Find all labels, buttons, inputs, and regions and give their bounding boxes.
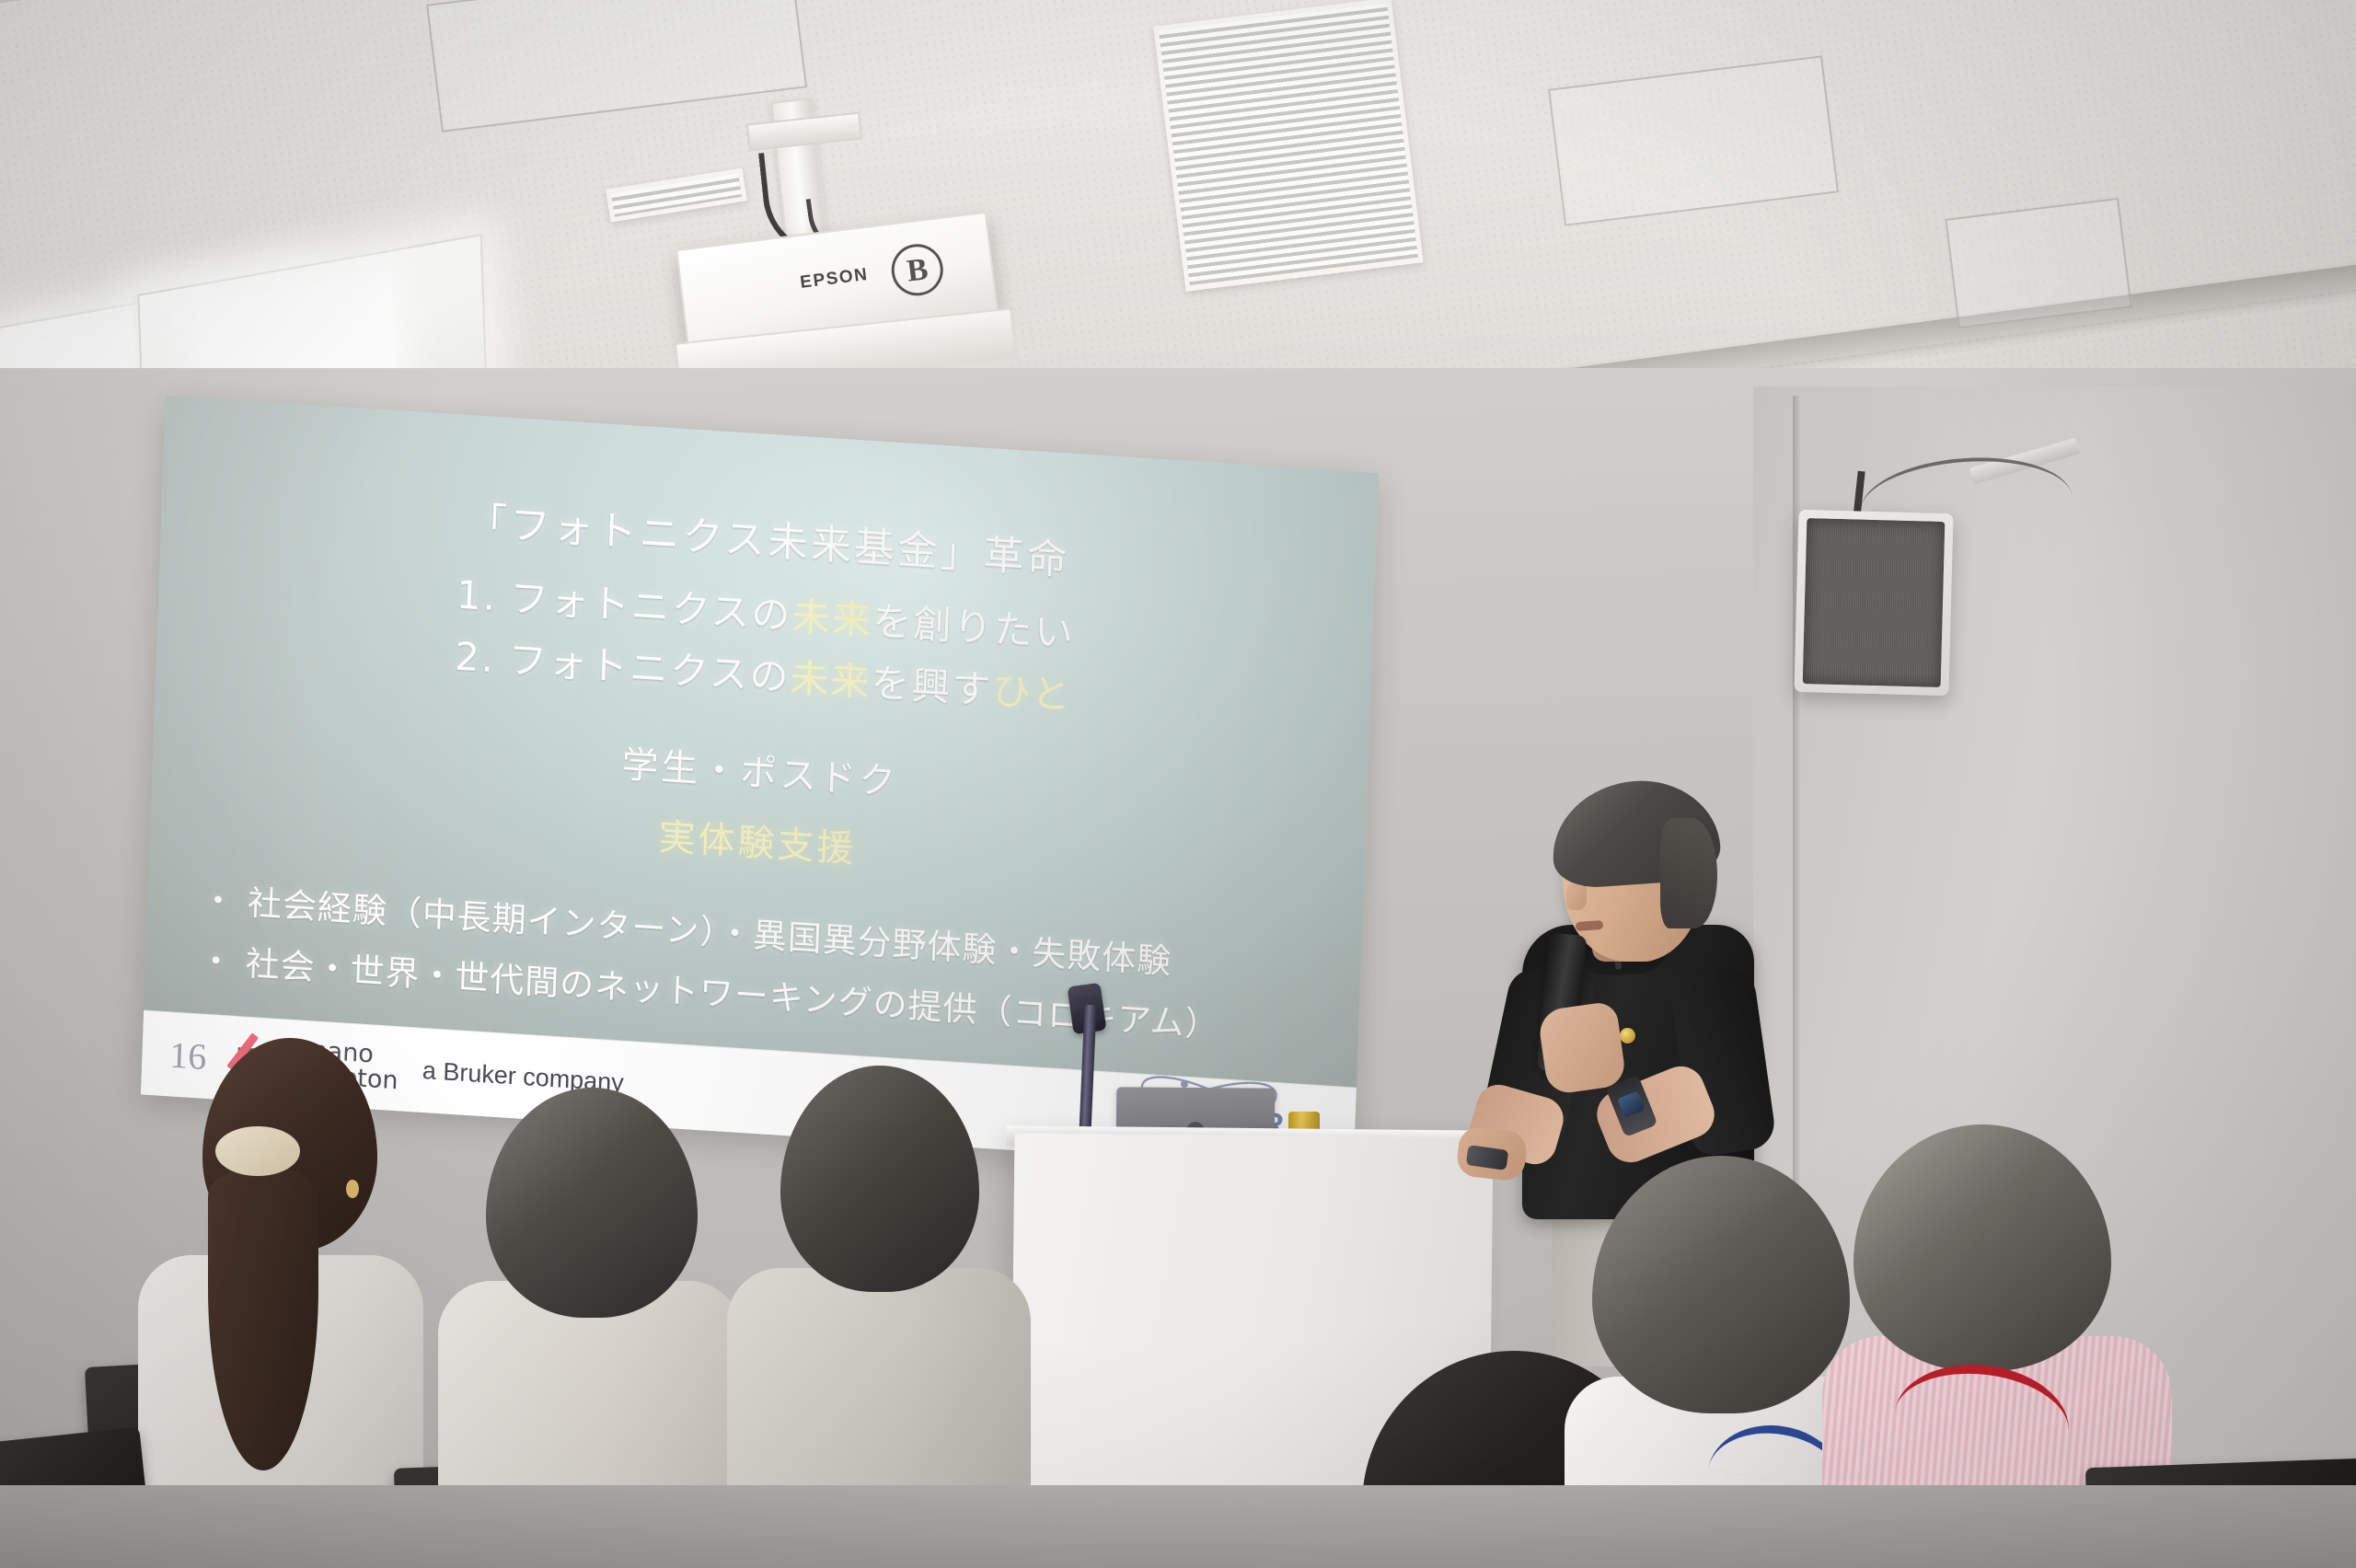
lecture-room-photo: EPSON B 「フォトニクス未来基金」革命 1.フォトニクスの未来を創りたい …: [0, 0, 2356, 1568]
slide-bullet-1: ・ 社会経験（中長期インターン）・異国異分野体験・失敗体験: [201, 871, 1325, 993]
slide-list-item-1: 1.フォトニクスの未来を創りたい: [195, 547, 1336, 675]
projector-b-logo-icon: B: [889, 241, 946, 298]
audience-hair-scrunchie-icon: [215, 1126, 300, 1176]
slide-content: 「フォトニクス未来基金」革命 1.フォトニクスの未来を創りたい 2.フォトニクス…: [144, 396, 1379, 1091]
list-text-tail: ひと: [991, 668, 1072, 718]
presenter-nose: [1566, 882, 1587, 910]
presenter-mouth: [1576, 920, 1604, 931]
slide-title: 「フォトニクス未来基金」革命: [198, 471, 1339, 603]
audience-head: [1854, 1124, 2111, 1371]
presenter-right-hand: [1537, 1000, 1627, 1095]
wall-mounted-speaker: [1794, 510, 1953, 696]
list-number: 2.: [454, 633, 496, 681]
presenter-lapel-pin-icon: [1620, 1028, 1635, 1043]
audience-head: [486, 1088, 698, 1318]
slide-center-line-1: 学生・ポスドク: [190, 707, 1331, 833]
projector-brand-label: EPSON: [799, 265, 870, 294]
ceiling-air-vent: [1153, 0, 1423, 292]
slide-center-line-2: 実体験支援: [187, 777, 1328, 903]
ceiling-panel-seam: [1945, 198, 2131, 329]
slide-bullet-list: ・ 社会経験（中長期インターン）・異国異分野体験・失敗体験 ・ 社会・世界・世代…: [181, 870, 1324, 1054]
audience-earring-icon: [346, 1180, 359, 1198]
floor: [0, 1485, 2356, 1568]
slide-list-item-2: 2.フォトニクスの未来を興すひと: [193, 608, 1334, 737]
list-text-highlight: 未来: [790, 655, 872, 706]
speaker-grill-icon: [1803, 518, 1946, 687]
audience-head: [780, 1066, 979, 1292]
list-text-pre: フォトニクスの: [509, 575, 792, 639]
list-number: 1.: [456, 571, 498, 619]
list-text-pre: フォトニクスの: [507, 637, 791, 700]
slide-bullet-2: ・ 社会・世界・世代間のネットワーキングの提供（コロキアム）: [198, 932, 1322, 1054]
list-text-post: を創りたい: [872, 598, 1075, 656]
list-text-highlight: 未来: [791, 594, 873, 644]
presenter-hair-side: [1660, 818, 1717, 928]
list-text-post: を興す: [870, 660, 993, 712]
audience-head: [1592, 1156, 1850, 1413]
